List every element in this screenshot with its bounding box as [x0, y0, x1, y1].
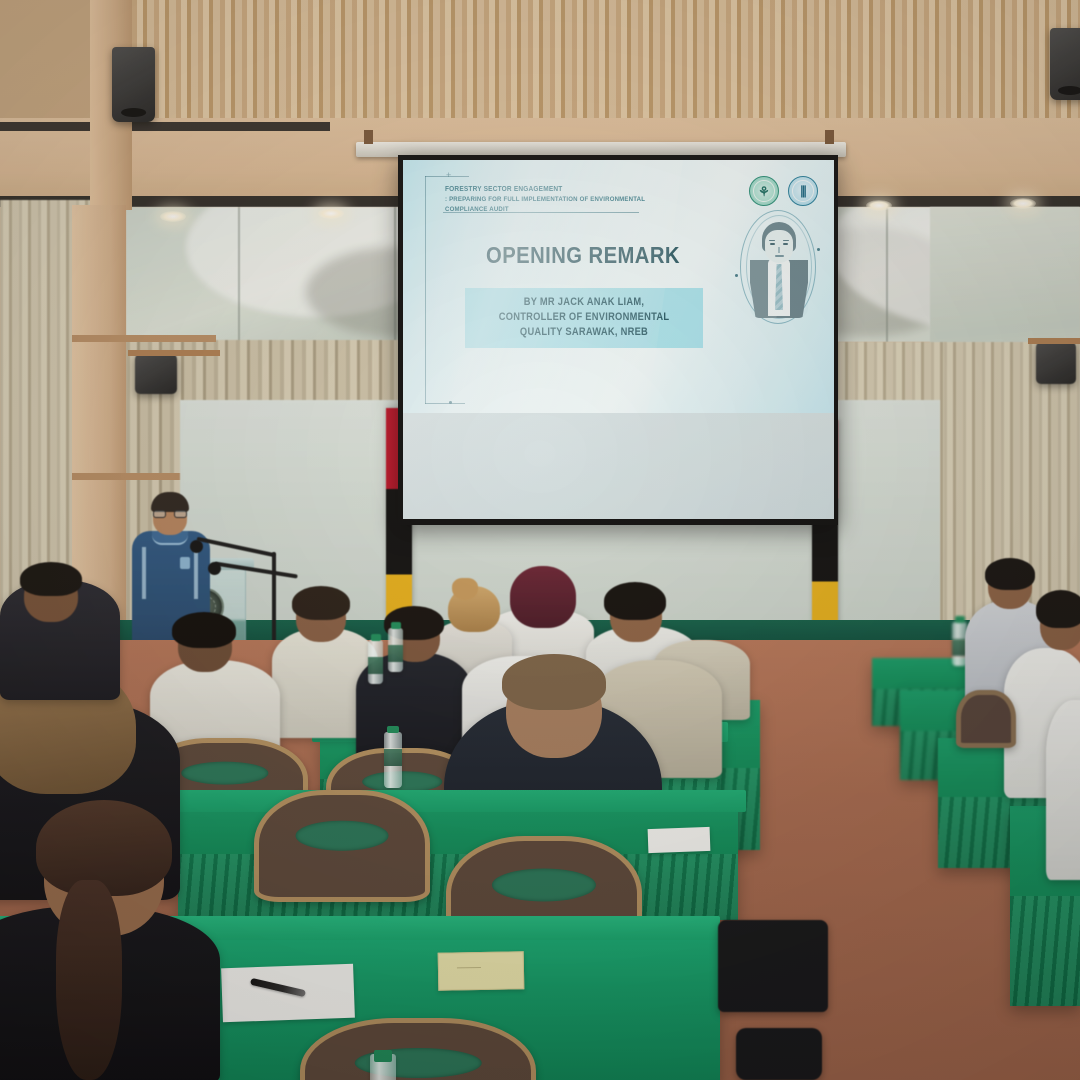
slide-subtitle-line3: QUALITY SARAWAK, NREB: [485, 325, 684, 340]
presentation-slide: + FORESTRY SECTOR ENGAGEMENT : PREPARING…: [403, 160, 834, 413]
department-logo: ⫼: [788, 176, 818, 206]
tabletop-row4: [170, 790, 746, 812]
slide-footnote: [447, 378, 637, 397]
ceiling-wood-slats: [0, 0, 1080, 132]
microphone-head-right: [208, 562, 221, 575]
pilaster-band: [72, 335, 126, 342]
portrait-eyebrow: [783, 240, 789, 242]
bottle-label: [368, 657, 383, 674]
table-skirt: [1010, 896, 1080, 1006]
wall-speaker-top-right: [1050, 28, 1080, 100]
bottle-label: [384, 749, 402, 766]
wall-speaker-top-left: [112, 47, 155, 122]
speaker-mount-bracket: [128, 350, 220, 356]
slide-logo-group: ⚘ ⫼: [749, 176, 818, 206]
attendee-hair-bun: [452, 578, 478, 600]
ceiling-downlight: [318, 208, 344, 219]
speaker-cone: [121, 108, 147, 117]
slide-subtitle-line1: BY MR JACK ANAK LIAM,: [485, 295, 684, 310]
chair-row4-left: [254, 790, 430, 902]
portrait-nose: [778, 247, 780, 253]
portrait-eye: [770, 243, 775, 245]
bottle-cap: [387, 726, 399, 733]
slide-subtitle-line2: CONTROLLER OF ENVIRONMENTAL: [485, 310, 684, 325]
portrait-dot-mark: [735, 274, 738, 277]
attendee-maroon-hair: [510, 566, 576, 628]
mirror-seam: [238, 207, 240, 342]
note-card-line: [457, 967, 481, 969]
attendee-hair: [292, 586, 350, 620]
paper-sheet-row4: [648, 827, 711, 853]
attendee-far-right: [1046, 700, 1080, 880]
attendee-hair: [36, 800, 172, 896]
chair: [956, 690, 1016, 748]
ceiling-downlight: [1010, 198, 1036, 209]
slide-title: OPENING REMARK: [465, 242, 701, 269]
shoe-on-floor: [736, 1028, 822, 1080]
eyeglass-lens-left: [153, 510, 166, 518]
bottle-cap: [371, 634, 381, 641]
backpack-on-floor: [718, 920, 828, 1012]
presenter-chest-badge: [180, 557, 190, 569]
projector-screen: + FORESTRY SECTOR ENGAGEMENT : PREPARING…: [398, 155, 838, 525]
speaker-cone: [1058, 86, 1080, 95]
attendee-hair: [502, 654, 606, 710]
wall-speaker-mid-left: [135, 354, 177, 394]
slide-frame-tick: [425, 403, 465, 404]
portrait-eyebrow: [769, 240, 775, 242]
projector-screen-surface: + FORESTRY SECTOR ENGAGEMENT : PREPARING…: [403, 160, 834, 519]
bottle-cap: [374, 1050, 392, 1062]
eyeglass-lens-right: [174, 510, 187, 518]
water-bottle: [368, 640, 383, 684]
chair-back-opening: [181, 762, 268, 785]
attendee-ponytail: [56, 880, 122, 1080]
ceiling-downlight: [866, 200, 892, 211]
soffit-trim-upper: [0, 122, 330, 131]
chair-back-opening: [296, 821, 389, 852]
presenter-eyeglasses: [153, 510, 187, 518]
pilaster-shelf-bracket: [126, 335, 216, 342]
slide-kicker-line1: FORESTRY SECTOR ENGAGEMENT: [445, 185, 562, 193]
chair-back-opening: [492, 869, 596, 902]
presenter-shirt-piping: [142, 547, 146, 599]
slide-subtitle-box: BY MR JACK ANAK LIAM, CONTROLLER OF ENVI…: [465, 288, 703, 348]
water-bottle: [384, 732, 402, 788]
yellow-note-card: [438, 951, 525, 990]
portrait-face: [765, 230, 793, 263]
screen-mount-bracket: [364, 130, 373, 144]
speaker-mount-bracket: [1028, 338, 1080, 344]
portrait-mouth: [775, 255, 784, 257]
conference-hall-photo: + FORESTRY SECTOR ENGAGEMENT : PREPARING…: [0, 0, 1080, 1080]
ceiling-downlight: [160, 211, 186, 222]
bottle-label: [388, 645, 403, 662]
pilaster-band: [72, 473, 126, 480]
wall-speaker-mid-right: [1036, 342, 1076, 384]
microphone-head-left: [190, 540, 203, 553]
portrait-figure: [750, 218, 808, 318]
slide-kicker: FORESTRY SECTOR ENGAGEMENT : PREPARING F…: [445, 184, 684, 215]
presenter-shirt-piping: [194, 547, 198, 599]
mirror-seam: [886, 207, 888, 342]
attendee-hair: [20, 562, 82, 596]
slide-footnote-line2: [447, 388, 637, 397]
slide-dot-mark: [449, 401, 452, 404]
slide-frame-bracket: [425, 176, 439, 404]
water-bottle-foreground: [370, 1054, 396, 1080]
slide-kicker-rule: [443, 212, 639, 213]
portrait-dot-mark: [817, 248, 820, 251]
attendee-hair: [604, 582, 666, 620]
slide-footnote-line1: [447, 378, 637, 387]
water-bottle: [388, 628, 403, 672]
attendee-hair: [172, 612, 236, 648]
portrait-eye: [783, 243, 788, 245]
attendee-hair: [1036, 590, 1080, 628]
slide-crosshair-mark: +: [446, 171, 451, 180]
nreb-logo: ⚘: [749, 176, 779, 206]
mirror-seam: [394, 207, 396, 342]
bottle-cap: [391, 622, 401, 629]
screen-mount-bracket: [825, 130, 834, 144]
department-logo-glyph: ⫼: [801, 185, 806, 198]
attendee-hair: [985, 558, 1035, 590]
bottle-cap: [955, 616, 965, 623]
slide-speaker-portrait: [742, 212, 814, 322]
nreb-logo-glyph: ⚘: [758, 185, 770, 198]
presenter-hair: [151, 492, 189, 512]
